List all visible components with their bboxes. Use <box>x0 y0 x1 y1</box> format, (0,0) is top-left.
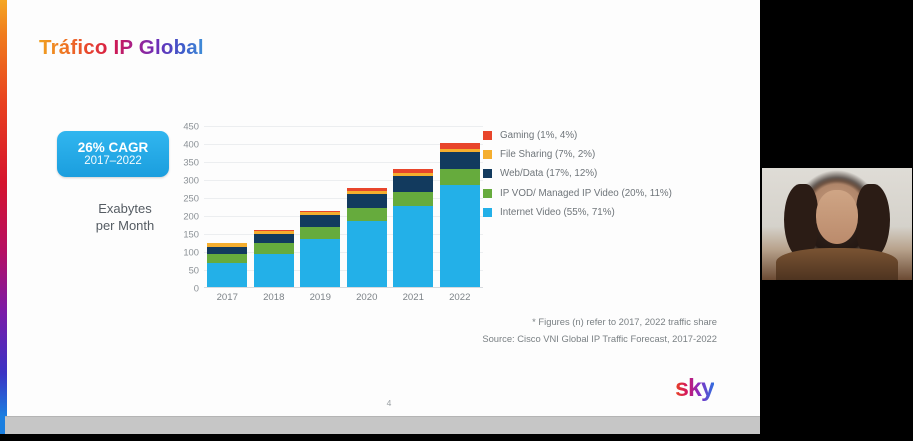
legend-item[interactable]: Gaming (1%, 4%) <box>483 130 672 141</box>
x-tick-label: 2022 <box>440 292 480 303</box>
participant-video-tile[interactable] <box>762 168 912 280</box>
legend-label: Web/Data (17%, 12%) <box>500 168 597 179</box>
chart-bars <box>204 125 483 287</box>
y-tick-label: 350 <box>173 157 199 168</box>
cagr-badge: 26% CAGR 2017–2022 <box>57 131 169 177</box>
legend-swatch-icon <box>483 169 492 178</box>
y-tick-label: 300 <box>173 175 199 186</box>
legend-item[interactable]: IP VOD/ Managed IP Video (20%, 11%) <box>483 188 672 199</box>
slide-accent-strip <box>0 0 7 434</box>
x-tick-label: 2021 <box>393 292 433 303</box>
video-panel[interactable] <box>760 0 913 441</box>
video-letterbox-bottom <box>760 280 913 441</box>
stacked-bar-chart: 050100150200250300350400450 201720182019… <box>173 126 483 308</box>
bar-segment <box>440 169 480 185</box>
stacked-bar <box>254 230 294 287</box>
cagr-value: 26% CAGR <box>78 140 149 155</box>
bar-segment <box>347 194 387 208</box>
y-tick-label: 100 <box>173 247 199 258</box>
legend-item[interactable]: File Sharing (7%, 2%) <box>483 149 672 160</box>
participant-hair-left <box>784 184 818 258</box>
bar-segment <box>347 208 387 222</box>
y-tick-label: 450 <box>173 121 199 132</box>
x-tick-label: 2018 <box>254 292 294 303</box>
legend-item[interactable]: Internet Video (55%, 71%) <box>483 207 672 218</box>
slide-content-area: Tráfico IP Global 26% CAGR 2017–2022 Exa… <box>7 0 760 434</box>
legend-label: Gaming (1%, 4%) <box>500 130 577 141</box>
x-tick-label: 2017 <box>207 292 247 303</box>
bar-segment <box>254 254 294 287</box>
bar-segment <box>207 263 247 287</box>
y-axis-tick-labels: 050100150200250300350400450 <box>173 126 199 288</box>
screen-share-view: Tráfico IP Global 26% CAGR 2017–2022 Exa… <box>0 0 913 441</box>
footnote-figures: * Figures (n) refer to 2017, 2022 traffi… <box>387 313 717 330</box>
bar-segment <box>440 185 480 287</box>
bar-group <box>347 125 387 287</box>
bar-segment <box>393 176 433 192</box>
bar-segment <box>393 192 433 207</box>
bar-group <box>393 125 433 287</box>
x-tick-label: 2019 <box>300 292 340 303</box>
stacked-bar <box>207 243 247 287</box>
y-tick-label: 0 <box>173 283 199 294</box>
y-tick-label: 400 <box>173 139 199 150</box>
video-letterbox-top <box>760 0 913 168</box>
y-axis-title-line1: Exabytes <box>69 200 181 217</box>
bar-group <box>207 125 247 287</box>
presentation-slide: Tráfico IP Global 26% CAGR 2017–2022 Exa… <box>0 0 760 434</box>
legend-label: File Sharing (7%, 2%) <box>500 149 595 160</box>
bar-segment <box>440 152 480 169</box>
window-bottom-bar <box>0 416 760 434</box>
bar-segment <box>300 227 340 239</box>
x-tick-label: 2020 <box>347 292 387 303</box>
legend-label: Internet Video (55%, 71%) <box>500 207 615 218</box>
bar-segment <box>393 206 433 287</box>
sky-logo: sky <box>675 374 714 403</box>
x-axis-tick-labels: 201720182019202020212022 <box>204 292 483 303</box>
legend-swatch-icon <box>483 208 492 217</box>
participant-face <box>816 190 858 244</box>
stacked-bar <box>393 169 433 287</box>
cagr-period: 2017–2022 <box>84 155 142 168</box>
slide-page-number: 4 <box>359 398 419 408</box>
legend-label: IP VOD/ Managed IP Video (20%, 11%) <box>500 188 672 199</box>
participant-body <box>776 248 898 280</box>
bar-segment <box>300 215 340 227</box>
y-axis-title-line2: per Month <box>69 217 181 234</box>
participant-video-frame <box>762 168 912 280</box>
chart-footnotes: * Figures (n) refer to 2017, 2022 traffi… <box>387 313 717 348</box>
stacked-bar <box>347 188 387 287</box>
footnote-source: Source: Cisco VNI Global IP Traffic Fore… <box>387 330 717 347</box>
y-axis-title: Exabytes per Month <box>69 200 181 234</box>
chart-plot-area <box>204 126 483 288</box>
legend-swatch-icon <box>483 131 492 140</box>
y-tick-label: 200 <box>173 211 199 222</box>
bar-group <box>254 125 294 287</box>
legend-swatch-icon <box>483 189 492 198</box>
bar-segment <box>207 254 247 263</box>
legend-item[interactable]: Web/Data (17%, 12%) <box>483 168 672 179</box>
y-tick-label: 150 <box>173 229 199 240</box>
bar-segment <box>254 243 294 253</box>
page-title: Tráfico IP Global <box>39 36 204 60</box>
window-bottom-accent <box>0 416 5 434</box>
bar-group <box>440 125 480 287</box>
bar-segment <box>300 239 340 287</box>
y-tick-label: 50 <box>173 265 199 276</box>
stacked-bar <box>300 211 340 287</box>
bar-segment <box>254 234 294 243</box>
bar-group <box>300 125 340 287</box>
bar-segment <box>347 221 387 287</box>
stacked-bar <box>440 143 480 287</box>
legend-swatch-icon <box>483 150 492 159</box>
participant-hair-right <box>856 184 890 258</box>
chart-legend: Gaming (1%, 4%)File Sharing (7%, 2%)Web/… <box>483 130 672 226</box>
y-tick-label: 250 <box>173 193 199 204</box>
bar-segment <box>207 247 247 255</box>
